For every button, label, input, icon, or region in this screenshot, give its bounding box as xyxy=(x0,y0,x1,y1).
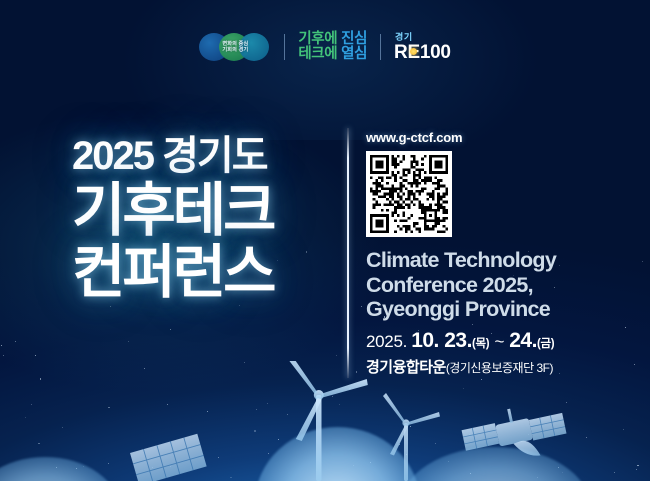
hill-center xyxy=(255,427,420,481)
bottom-illustration xyxy=(0,361,650,481)
event-date: 2025. 10. 23.(목) ~ 24.(금) xyxy=(366,329,622,353)
venue-name: 경기융합타운 xyxy=(366,359,446,376)
re100-prefix: 경기 xyxy=(395,33,413,42)
title-line-2: 기후테크 xyxy=(72,180,344,242)
slogan-word-tech: 테크에 xyxy=(298,46,337,62)
event-year: 2025. xyxy=(366,332,407,351)
conference-poster: 변화의 중심 기회의 경기 기후에진심 테크에열심 경기 RE100 2025 … xyxy=(0,0,650,481)
title-line-1: 2025 경기도 xyxy=(72,132,344,180)
poster-header: 변화의 중심 기회의 경기 기후에진심 테크에열심 경기 RE100 xyxy=(0,26,650,68)
english-title: Climate Technology Conference 2025, Gyeo… xyxy=(366,248,622,322)
event-start-day: (목) xyxy=(472,338,489,350)
event-end-day: (금) xyxy=(537,338,554,350)
title-line-3: 컨퍼런스 xyxy=(72,242,344,304)
english-title-line-2: Conference 2025, xyxy=(366,273,622,298)
gyeonggi-province-logo: 변화의 중심 기회의 경기 xyxy=(199,32,271,62)
slogan-word-sincere: 진심 xyxy=(341,31,367,47)
campaign-slogan: 기후에진심 테크에열심 xyxy=(298,32,367,62)
satellite-icon xyxy=(459,398,570,470)
hill-left xyxy=(0,457,120,481)
column-divider xyxy=(347,128,349,378)
slogan-word-eager: 열심 xyxy=(341,46,367,62)
top-glow xyxy=(120,0,540,140)
illustration-shapes xyxy=(0,361,650,481)
qr-code[interactable] xyxy=(366,151,452,237)
event-end-date: 24. xyxy=(509,329,537,352)
venue-detail: (경기신용보증재단 3F) xyxy=(446,361,553,375)
solar-panel-icon xyxy=(130,434,207,481)
date-separator: ~ xyxy=(493,332,505,351)
re100-word-text: RE100 xyxy=(394,42,451,63)
header-divider-1 xyxy=(284,34,285,60)
slogan-line-2: 테크에열심 xyxy=(298,47,367,62)
slogan-word-climate: 기후에 xyxy=(298,31,337,47)
english-title-line-1: Climate Technology xyxy=(366,248,622,273)
gyeonggi-re100-logo: 경기 RE100 xyxy=(394,33,451,62)
sun-icon xyxy=(410,48,417,55)
event-venue: 경기융합타운(경기신용보증재단 3F) xyxy=(366,356,622,377)
website-url[interactable]: www.g-ctcf.com xyxy=(366,130,622,145)
hill-right xyxy=(400,447,590,481)
wind-turbine-icon-small xyxy=(383,393,440,481)
poster-title: 2025 경기도 기후테크 컨퍼런스 xyxy=(72,132,344,304)
slogan-line-1: 기후에진심 xyxy=(298,32,367,47)
qr-code-image xyxy=(370,155,448,233)
event-start-date: 10. 23. xyxy=(411,329,472,352)
header-divider-2 xyxy=(380,34,381,60)
english-title-line-3: Gyeonggi Province xyxy=(366,297,622,322)
wind-turbine-icon xyxy=(285,361,368,481)
poster-info-column: www.g-ctcf.com Climate Technology Confer… xyxy=(366,130,622,377)
logo-text-line2: 기회의 경기 xyxy=(222,47,248,53)
re100-word: RE100 xyxy=(394,43,451,62)
logo-text: 변화의 중심 기회의 경기 xyxy=(199,32,271,62)
